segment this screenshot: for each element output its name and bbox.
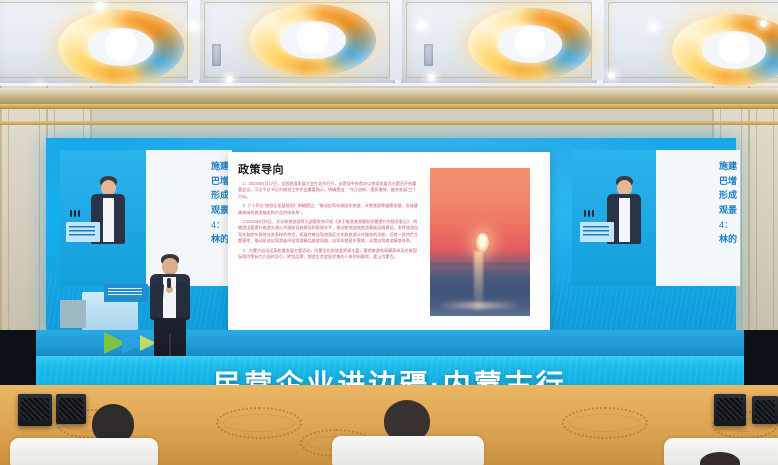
side-screen-right: 施建 巴增 形成 观景 4： 林的 bbox=[572, 150, 740, 286]
photo-water-ripple bbox=[438, 302, 520, 309]
ss-r-line-5: 4： bbox=[719, 220, 737, 231]
side-screen-right-text: 施建 巴增 形成 观景 4： 林的 bbox=[719, 161, 737, 245]
audience-chair-1 bbox=[10, 438, 158, 465]
ceiling-vent-2 bbox=[424, 44, 433, 66]
downlight-7 bbox=[650, 24, 657, 31]
ss-r-line-2: 巴增 bbox=[719, 176, 737, 187]
side-screen-left: 施建 巴增 形成 观景 4： 林的 bbox=[60, 150, 232, 286]
ss-r-line-1: 施建 bbox=[719, 161, 737, 172]
presentation-slide: 政策导向 1：2024年5月17日，全国旅游发展大会在北京召开，这是党中央首次以… bbox=[228, 152, 550, 332]
ss-r-mic-3 bbox=[592, 210, 594, 217]
ring-light-3 bbox=[468, 8, 592, 80]
ss-line-3: 形成 bbox=[211, 190, 229, 201]
ss-mic-2 bbox=[74, 210, 76, 217]
pa-speaker-right-2 bbox=[752, 396, 778, 424]
slide-paragraph-2: 2 《“十四五”旅游业发展规划》明确提出：“推动自驾车旅居车旅游、冰雪旅游等健康… bbox=[238, 203, 420, 216]
ring-light-1 bbox=[58, 10, 184, 84]
downlight-5 bbox=[418, 22, 426, 30]
slide-paragraph-1: 1：2024年5月17日，全国旅游发展大会在北京召开，这是党中央首次以旅游发展为… bbox=[238, 181, 420, 200]
audience-chair-2 bbox=[332, 436, 484, 465]
ss-r-line-6: 林的 bbox=[719, 234, 737, 245]
conference-hall-photo: 施建 巴增 形成 观景 4： 林的 施建 巴增 形成 观景 bbox=[0, 0, 778, 465]
downlight-2 bbox=[96, 2, 104, 10]
ss-line-1: 施建 bbox=[211, 161, 229, 172]
pa-speaker-left bbox=[18, 394, 52, 426]
speaker-left-arm bbox=[151, 282, 164, 317]
ring-light-2 bbox=[250, 4, 376, 76]
cornice-molding bbox=[0, 88, 778, 104]
ss-podium bbox=[66, 222, 100, 242]
ss-r-mic-group bbox=[584, 210, 594, 217]
ss-mic-3 bbox=[78, 210, 80, 217]
downlight-4 bbox=[226, 76, 233, 83]
ss-r-podium-label bbox=[583, 226, 609, 236]
slide-title: 政策导向 bbox=[238, 161, 284, 177]
ceiling-beam-1 bbox=[188, 0, 200, 80]
ss-r-mic-2 bbox=[588, 210, 590, 217]
pa-speaker-left-2 bbox=[56, 394, 86, 424]
gold-trim-strip bbox=[0, 104, 778, 109]
ss-line-6: 林的 bbox=[211, 234, 229, 245]
downlight-8 bbox=[608, 72, 615, 79]
ceiling-vent-1 bbox=[212, 44, 221, 66]
slide-paragraph-3: 3 2024年8月5日，文化和旅游部等九部委联合印发《关于推进旅游服务质量提升的… bbox=[238, 219, 420, 244]
slide-paragraph-4: 4：内蒙古自治区高质量发展主题活动，内蒙古优质旅游资源丰富，要把旅游休闲康养纵深… bbox=[238, 248, 420, 261]
ss-mic-group bbox=[70, 210, 80, 217]
slide-sunrise-photo bbox=[430, 168, 530, 316]
ceiling bbox=[0, 0, 778, 92]
ss-r-podium bbox=[580, 222, 614, 242]
downlight-3 bbox=[190, 22, 198, 30]
ceiling-beam-3 bbox=[592, 0, 604, 80]
downlight-9 bbox=[760, 20, 767, 27]
slide-body-text: 1：2024年5月17日，全国旅游发展大会在北京召开，这是党中央首次以旅游发展为… bbox=[238, 181, 420, 264]
ss-line-4: 观景 bbox=[211, 205, 229, 216]
side-screen-left-text: 施建 巴增 形成 观景 4： 林的 bbox=[211, 161, 229, 245]
confidence-monitor bbox=[60, 300, 86, 328]
carpet-medallion-4 bbox=[562, 407, 648, 439]
lectern-sign bbox=[104, 284, 148, 302]
ss-line-5: 4： bbox=[211, 220, 229, 231]
ss-mic-1 bbox=[70, 210, 72, 217]
ss-speaker-shirt bbox=[103, 198, 114, 242]
lectern-sign-text bbox=[108, 288, 142, 297]
carpet-medallion-2 bbox=[216, 407, 302, 439]
speaker-leg-gap bbox=[169, 334, 171, 358]
handheld-microphone bbox=[167, 278, 171, 288]
photo-sun bbox=[476, 233, 489, 252]
pa-speaker-right bbox=[714, 394, 746, 426]
ceiling-beam-2 bbox=[390, 0, 402, 80]
ss-r-line-4: 观景 bbox=[719, 205, 737, 216]
ss-r-mic-1 bbox=[584, 210, 586, 217]
ss-r-speaker-shirt bbox=[619, 198, 630, 242]
ss-podium-label bbox=[69, 226, 95, 236]
ss-r-line-3: 形成 bbox=[719, 190, 737, 201]
gold-trim-strip-2 bbox=[0, 121, 778, 125]
downlight-6 bbox=[428, 74, 435, 81]
ss-line-2: 巴增 bbox=[211, 176, 229, 187]
